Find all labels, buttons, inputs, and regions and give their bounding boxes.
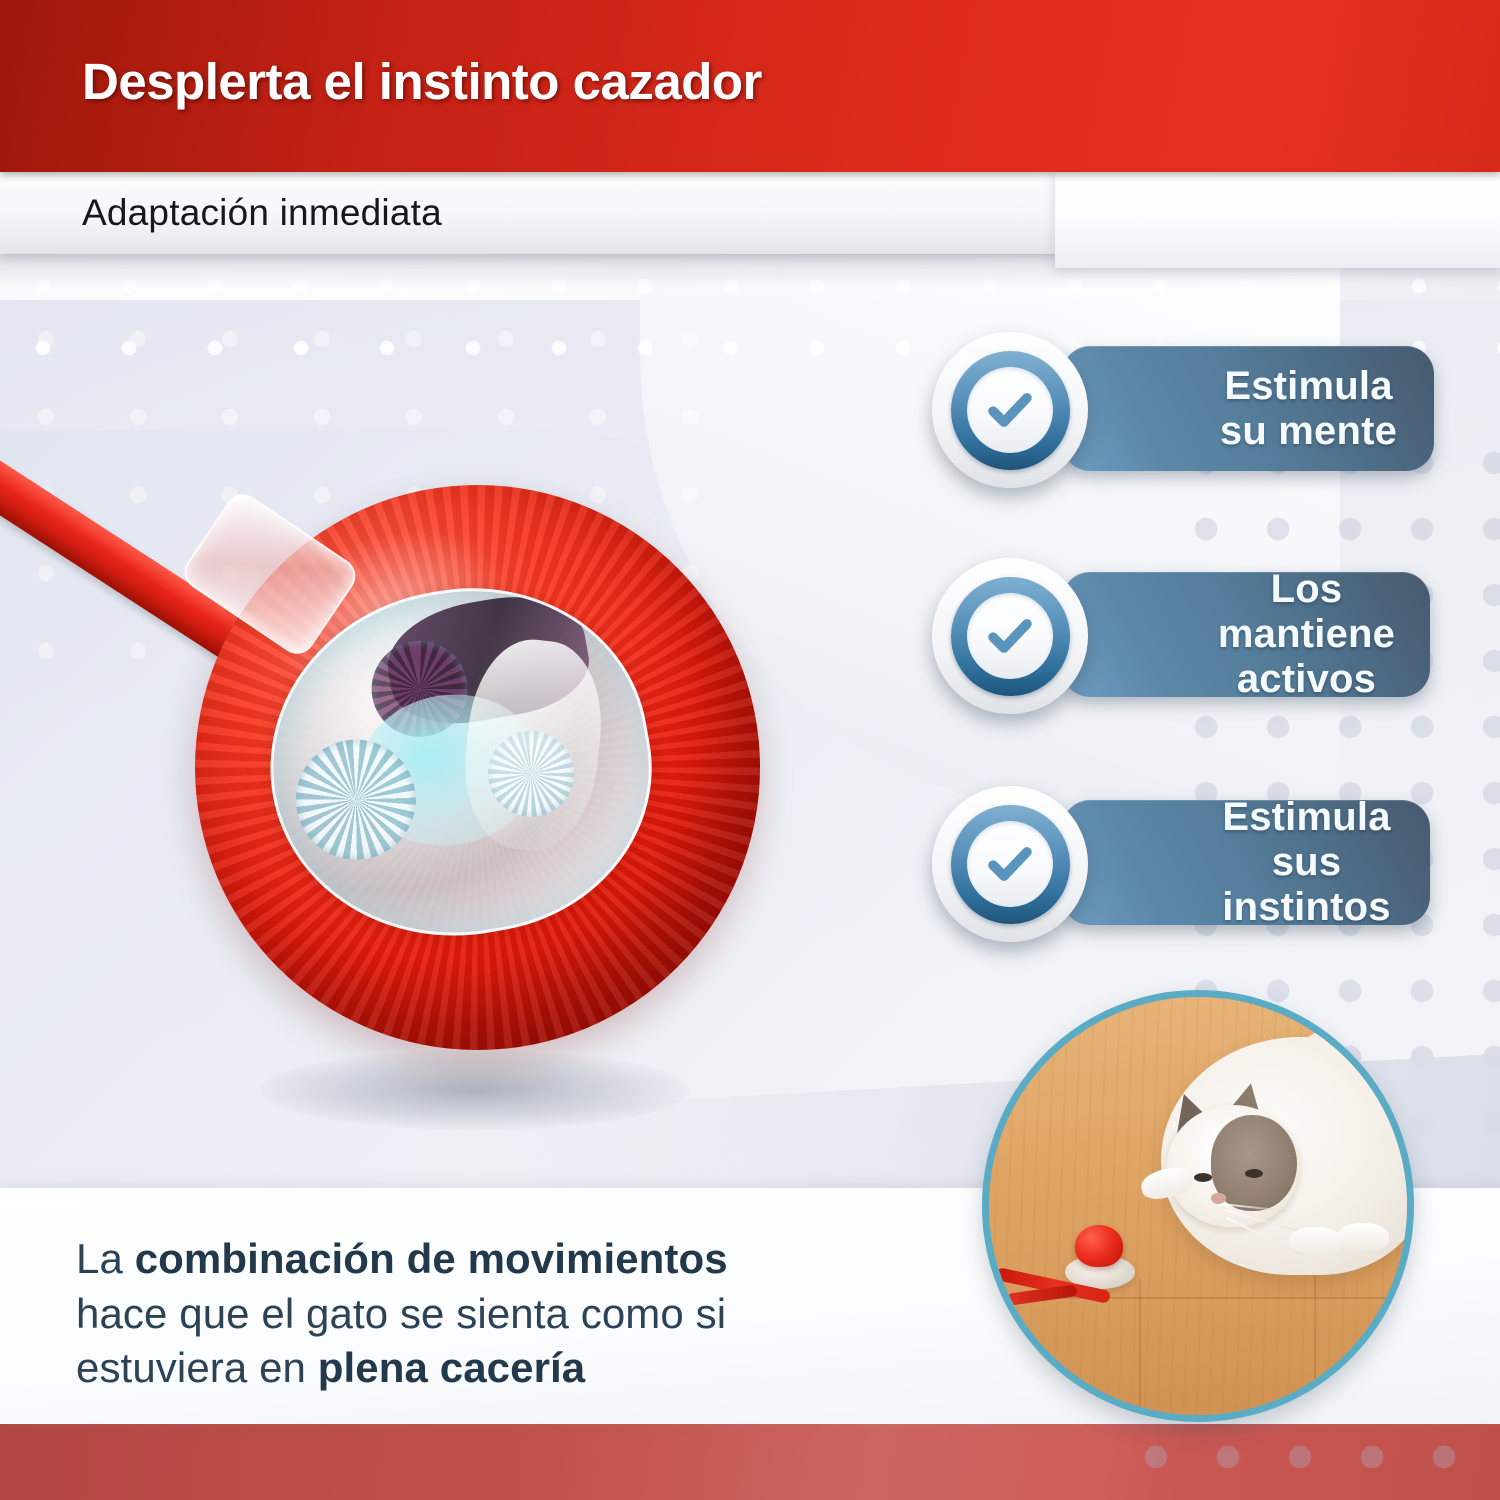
toy-red-ball (1075, 1225, 1123, 1267)
subtitle-text: Adaptación inmediata (82, 192, 442, 234)
checkmark-icon-3 (981, 835, 1039, 893)
feature-label-2: Los mantiene activos (1207, 567, 1406, 701)
subtitle-banner-step (1055, 172, 1500, 268)
cat-paw-rear-2 (1337, 1223, 1389, 1251)
caption-text: La combinación de movimientos hace que e… (76, 1232, 728, 1396)
caption-line1-plain: La (76, 1235, 135, 1282)
feature-pill-2[interactable]: Los mantiene activos (1062, 572, 1430, 697)
page-title: Desplerta el instinto cazador (82, 52, 762, 111)
check-circle-icon-3 (932, 786, 1088, 942)
checkmark-icon-1 (981, 381, 1039, 439)
floor-seam-2 (1139, 1279, 1141, 1422)
cat-eye-right (1245, 1169, 1263, 1178)
badge-ring-2 (951, 577, 1070, 696)
badge-inner-1 (967, 367, 1053, 453)
feature-label-3: Estimula sus instintos (1207, 795, 1406, 929)
check-circle-icon-2 (932, 558, 1088, 714)
checkmark-icon-2 (981, 607, 1039, 665)
infographic-canvas: Desplerta el instinto cazador Adaptación… (0, 0, 1500, 1500)
caption-line1-bold: combinación de movimientos (135, 1235, 728, 1282)
badge-ring-1 (951, 351, 1070, 470)
caption-line3-bold: plena cacería (318, 1344, 585, 1391)
badge-inner-3 (967, 821, 1053, 907)
check-circle-icon-1 (932, 332, 1088, 488)
badge-inner-2 (967, 593, 1053, 679)
cat-photo (982, 990, 1414, 1422)
caption-line3-plain: estuviera en (76, 1344, 318, 1391)
cat-eye-left (1194, 1173, 1212, 1182)
footer-sheen (560, 1424, 1180, 1500)
product-image (0, 390, 860, 1130)
caption-line2: hace que el gato se sienta como si (76, 1290, 726, 1337)
feature-pill-3[interactable]: Estimula sus instintos (1062, 800, 1430, 925)
feature-pill-1[interactable]: Estimula su mente (1062, 346, 1434, 471)
footer-dot-pattern (1120, 1424, 1500, 1500)
footer-strip (0, 1424, 1500, 1500)
badge-ring-3 (951, 805, 1070, 924)
feature-label-1: Estimula su mente (1220, 364, 1397, 454)
header-banner: Desplerta el instinto cazador (0, 0, 1500, 172)
product-drop-shadow (260, 1050, 690, 1130)
